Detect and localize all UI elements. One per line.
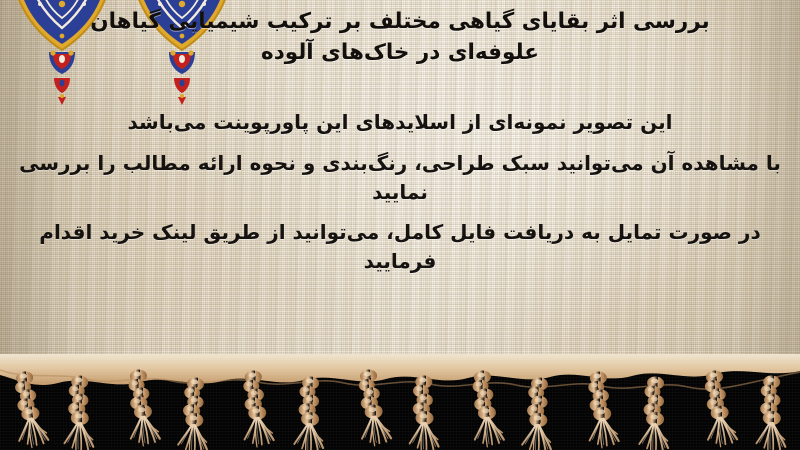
- slide-body: این تصویر نمونه‌ای از اسلایدهای این پاور…: [0, 108, 800, 287]
- slide-title-line-2: علوفه‌ای در خاک‌های آلوده: [14, 38, 786, 69]
- slide-body-line-1: این تصویر نمونه‌ای از اسلایدهای این پاور…: [10, 108, 790, 136]
- presentation-slide: بررسی اثر بقایای گیاهی مختلف بر ترکیب شی…: [0, 0, 800, 450]
- carpet-fringe: [0, 354, 800, 450]
- slide-body-line-3: در صورت تمایل به دریافت فایل کامل، می‌تو…: [10, 218, 790, 275]
- slide-body-line-2: با مشاهده آن می‌توانید سبک طراحی، رنگ‌بن…: [10, 149, 790, 206]
- slide-title: بررسی اثر بقایای گیاهی مختلف بر ترکیب شی…: [0, 7, 800, 68]
- slide-title-line-1: بررسی اثر بقایای گیاهی مختلف بر ترکیب شی…: [90, 9, 710, 34]
